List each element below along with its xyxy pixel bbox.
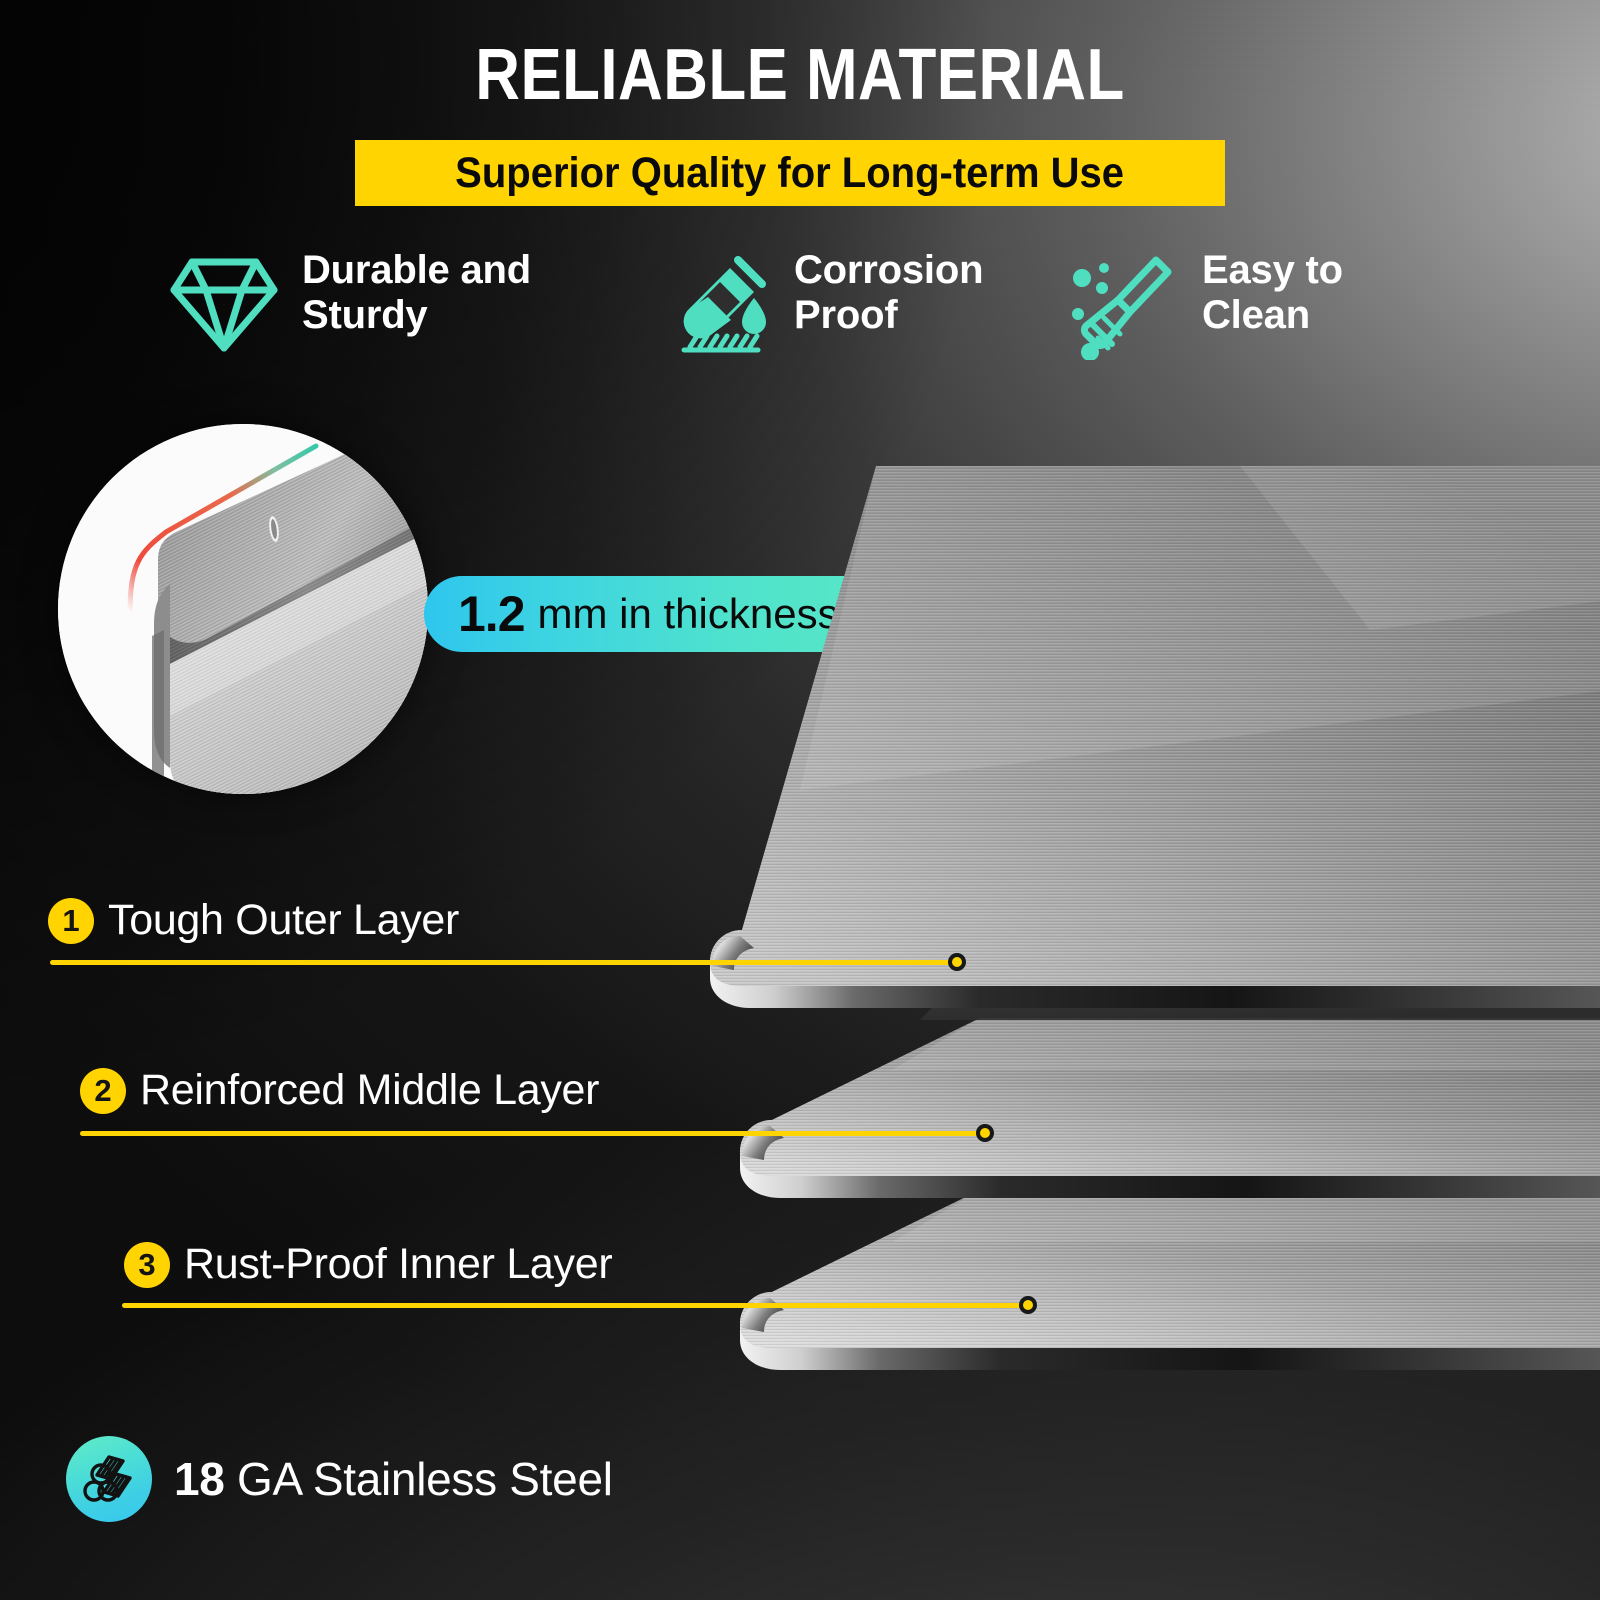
- feature-label-corrosion: Corrosion Proof: [794, 248, 983, 338]
- feature-item-corrosion: Corrosion Proof: [668, 248, 1068, 365]
- infographic-canvas: RELIABLE MATERIAL Superior Quality for L…: [0, 0, 1600, 1600]
- leader-line-3: [122, 1303, 1034, 1308]
- subtitle-text: Superior Quality for Long-term Use: [456, 149, 1125, 198]
- layer-callout-2: 2 Reinforced Middle Layer: [80, 1066, 599, 1115]
- feature-label-clean: Easy to Clean: [1202, 248, 1343, 338]
- leader-dot-1: [948, 953, 966, 971]
- feature-item-clean: Easy to Clean: [1068, 248, 1468, 365]
- broom-icon: [1068, 252, 1180, 365]
- layer-label-1: Tough Outer Layer: [108, 896, 459, 945]
- gauge-row: 18 GA Stainless Steel: [66, 1436, 613, 1522]
- layer-callout-1: 1 Tough Outer Layer: [48, 896, 459, 945]
- steel-plate-stack: [680, 430, 1600, 1400]
- layer-number-badge-1: 1: [48, 898, 94, 944]
- plate-layer-1: [710, 466, 1600, 1008]
- gauge-description: GA Stainless Steel: [225, 1453, 613, 1505]
- steel-bars-icon: [66, 1436, 152, 1522]
- feature-list: Durable and Sturdy: [168, 248, 1468, 365]
- thickness-value: 1.2: [458, 585, 525, 643]
- diamond-icon: [168, 252, 280, 361]
- layer-number-badge-3: 3: [124, 1242, 170, 1288]
- magnifier-image: [58, 424, 428, 794]
- plate-layer-2: [740, 1018, 1600, 1198]
- gauge-text: 18 GA Stainless Steel: [174, 1452, 613, 1506]
- plate-layer-3: [740, 1190, 1600, 1370]
- subtitle-banner: Superior Quality for Long-term Use: [355, 140, 1225, 206]
- magnifier-closeup: [58, 424, 428, 794]
- layer-callout-3: 3 Rust-Proof Inner Layer: [124, 1240, 612, 1289]
- leader-dot-3: [1019, 1296, 1037, 1314]
- leader-line-2: [80, 1131, 988, 1136]
- layer-number-badge-2: 2: [80, 1068, 126, 1114]
- layer-label-2: Reinforced Middle Layer: [140, 1066, 599, 1115]
- feature-item-durable: Durable and Sturdy: [168, 248, 668, 365]
- page-title: RELIABLE MATERIAL: [112, 34, 1488, 116]
- layer-label-3: Rust-Proof Inner Layer: [184, 1240, 612, 1289]
- leader-line-1: [50, 960, 960, 965]
- leader-dot-2: [976, 1124, 994, 1142]
- test-tube-drop-icon: [668, 252, 772, 361]
- feature-label-durable: Durable and Sturdy: [302, 248, 531, 338]
- gauge-number: 18: [174, 1453, 225, 1505]
